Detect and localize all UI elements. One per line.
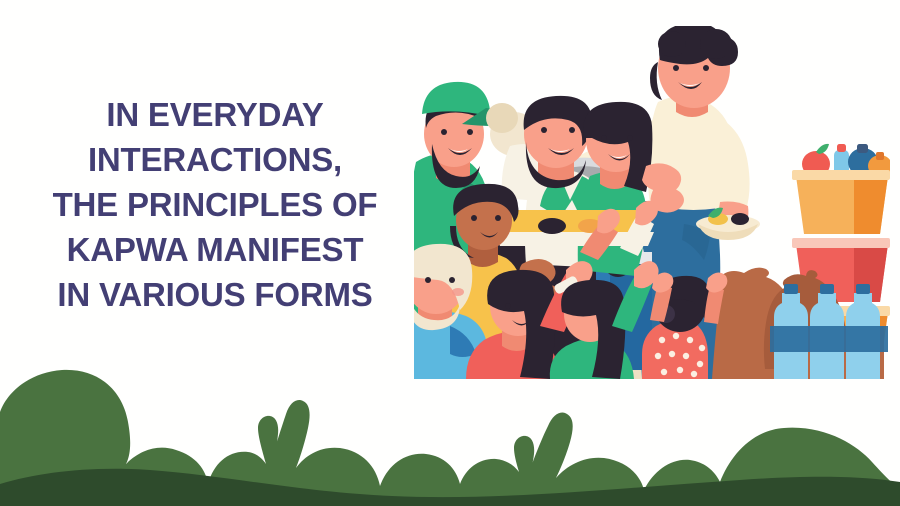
headline-line-2: INTERACTIONS, xyxy=(20,137,410,182)
water-bottle-pack xyxy=(770,284,888,379)
food-donation-illustration xyxy=(414,26,890,379)
headline-line-3: THE PRINCIPLES OF xyxy=(20,182,410,227)
bush-foliage-decoration xyxy=(0,366,900,506)
headline-line-4: KAPWA MANIFEST xyxy=(20,227,410,272)
poster-canvas: IN EVERYDAY INTERACTIONS, THE PRINCIPLES… xyxy=(0,0,900,506)
page-title: IN EVERYDAY INTERACTIONS, THE PRINCIPLES… xyxy=(20,92,410,317)
headline-line-1: IN EVERYDAY xyxy=(20,92,410,137)
headline-line-5: IN VARIOUS FORMS xyxy=(20,272,410,317)
